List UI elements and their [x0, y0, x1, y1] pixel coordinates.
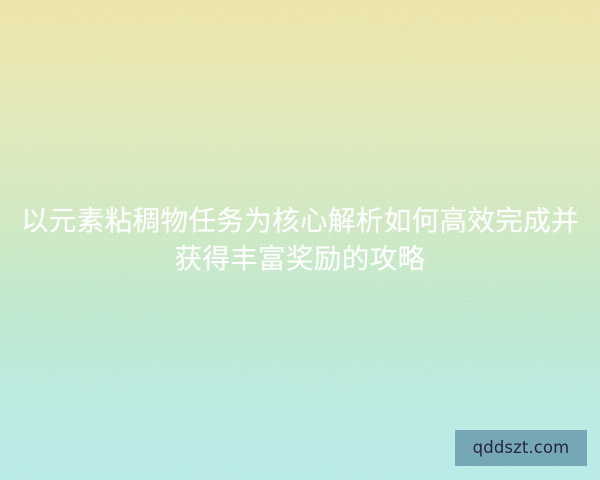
cover-canvas: 以元素粘稠物任务为核心解析如何高效完成并获得丰富奖励的攻略 qddszt.com [0, 0, 600, 480]
title-container: 以元素粘稠物任务为核心解析如何高效完成并获得丰富奖励的攻略 [0, 0, 600, 480]
watermark-label: qddszt.com [473, 440, 570, 457]
page-title: 以元素粘稠物任务为核心解析如何高效完成并获得丰富奖励的攻略 [14, 202, 586, 278]
watermark-badge: qddszt.com [455, 430, 587, 466]
